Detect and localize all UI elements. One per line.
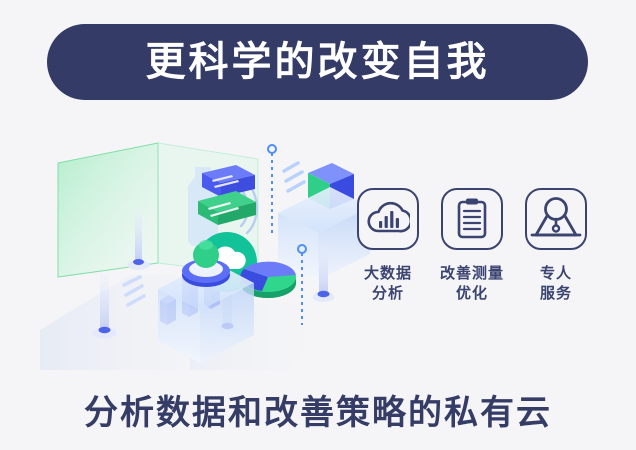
feature-item-measurement[interactable]: 改善测量 优化	[436, 188, 508, 305]
feature-label-line1: 专人	[540, 264, 572, 284]
cloud-bar-chart-icon-frame	[357, 188, 419, 250]
title-banner: 更科学的改变自我	[47, 24, 588, 100]
feature-label-line2: 服务	[540, 284, 572, 304]
poster-canvas: 更科学的改变自我	[0, 0, 636, 450]
feature-label-measurement: 改善测量 优化	[440, 264, 504, 305]
feature-label-line1: 大数据	[364, 264, 412, 284]
clipboard-icon-frame	[441, 188, 503, 250]
feature-label-big-data: 大数据 分析	[364, 264, 412, 305]
cloud-bar-chart-icon	[366, 199, 410, 239]
clipboard-icon	[452, 197, 492, 241]
feature-label-line2: 分析	[364, 284, 412, 304]
feature-list: 大数据 分析 改善测量 优化	[352, 188, 592, 333]
tagline: 分析数据和改善策略的私有云	[0, 385, 636, 434]
feature-label-support: 专人 服务	[540, 264, 572, 305]
page-title: 更科学的改变自我	[146, 42, 490, 82]
support-agent-icon	[530, 195, 582, 243]
feature-label-line2: 优化	[440, 284, 504, 304]
feature-item-big-data[interactable]: 大数据 分析	[352, 188, 424, 305]
support-agent-icon-frame	[525, 188, 587, 250]
hero-illustration	[40, 125, 370, 370]
feature-label-line1: 改善测量	[440, 264, 504, 284]
feature-item-support[interactable]: 专人 服务	[520, 188, 592, 305]
